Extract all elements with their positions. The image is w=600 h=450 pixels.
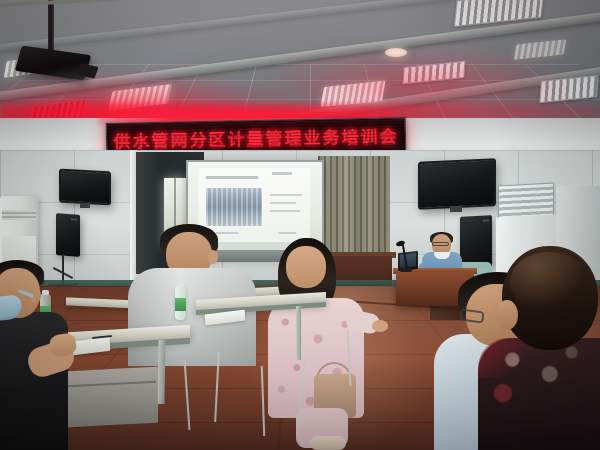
- glasses-icon: [459, 308, 484, 323]
- tv-mount-left: [80, 203, 90, 208]
- attendee-5-ear: [496, 300, 518, 330]
- water-bottle: [175, 286, 186, 320]
- attendee-3: [262, 246, 382, 446]
- slide-text-line: [270, 202, 296, 204]
- desk-leg: [296, 306, 301, 360]
- tv-mount-right: [450, 206, 462, 212]
- speaker-right: [460, 215, 492, 269]
- ceiling-light-panel: [514, 39, 566, 60]
- attendee-3-shoe: [310, 436, 346, 450]
- attendee-2-ear: [208, 250, 218, 264]
- slide-chart-image: [206, 188, 262, 226]
- presentation-slide: [198, 168, 310, 242]
- desk-leg: [157, 340, 165, 404]
- projector-mount-pole: [48, 0, 54, 55]
- slide-text-line: [270, 210, 300, 212]
- conference-room-photo: 供水管网分区计量管理业务培训会: [0, 0, 600, 450]
- slide-title-line: [206, 176, 258, 179]
- wall-monitor-left: [59, 169, 111, 206]
- attendee-3-hand: [372, 320, 388, 332]
- attendee-3-head: [286, 246, 326, 288]
- slide-text-line: [278, 232, 296, 234]
- attendee-1: [0, 268, 74, 450]
- speaker-left: [56, 213, 80, 257]
- attendee-5: [492, 246, 600, 450]
- slide-text-line: [270, 194, 302, 196]
- wall-monitor-right: [418, 158, 496, 210]
- microphone-base: [400, 268, 412, 272]
- attendee-1-body: [0, 312, 68, 450]
- ceiling-downlight: [385, 48, 407, 57]
- glasses-icon: [432, 242, 449, 246]
- slide-subtitle-line: [272, 172, 292, 175]
